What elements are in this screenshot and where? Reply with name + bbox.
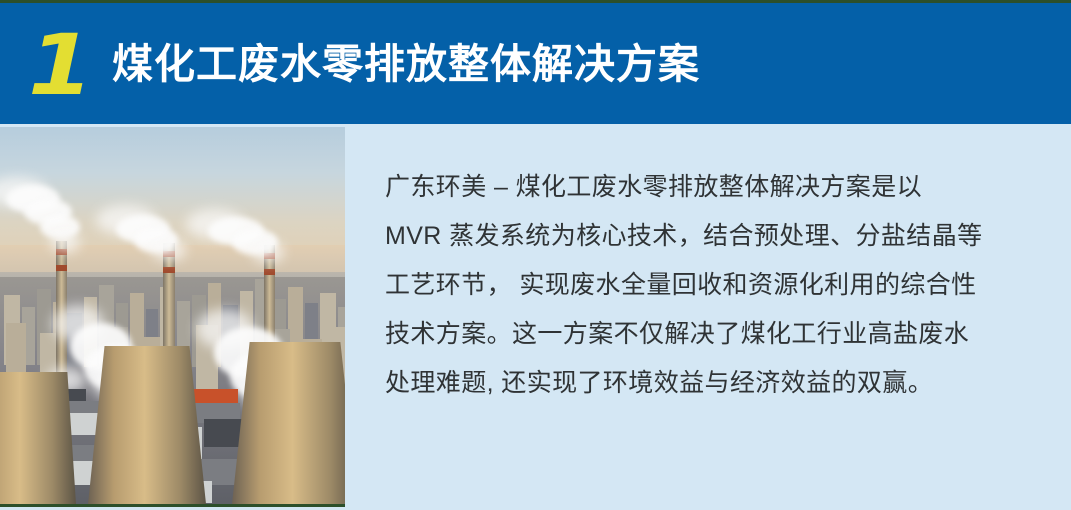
slide-root: 1 煤化工废水零排放整体解决方案: [0, 0, 1071, 510]
section-number-badge: 1: [28, 23, 91, 107]
description-line: 技术方案。这一方案不仅解决了煤化工行业高盐废水: [385, 310, 985, 359]
description-line: 工艺环节， 实现废水全量回收和资源化利用的综合性: [385, 261, 985, 310]
cooling-tower: [0, 372, 76, 504]
cooling-tower: [232, 342, 345, 504]
page-title: 煤化工废水零排放整体解决方案: [112, 39, 700, 89]
description-line: 处理难题, 还实现了环境效益与经济效益的双赢。: [385, 359, 985, 408]
description-line: 广东环美 – 煤化工废水零排放整体解决方案是以: [385, 163, 985, 212]
power-plant-photo: [0, 127, 345, 507]
section-header-bar: 1 煤化工废水零排放整体解决方案: [0, 0, 1071, 124]
cooling-tower: [88, 346, 206, 504]
description-line: MVR 蒸发系统为核心技术，结合预处理、分盐结晶等: [385, 212, 985, 261]
description-paragraph: 广东环美 – 煤化工废水零排放整体解决方案是以 MVR 蒸发系统为核心技术，结合…: [385, 163, 985, 408]
